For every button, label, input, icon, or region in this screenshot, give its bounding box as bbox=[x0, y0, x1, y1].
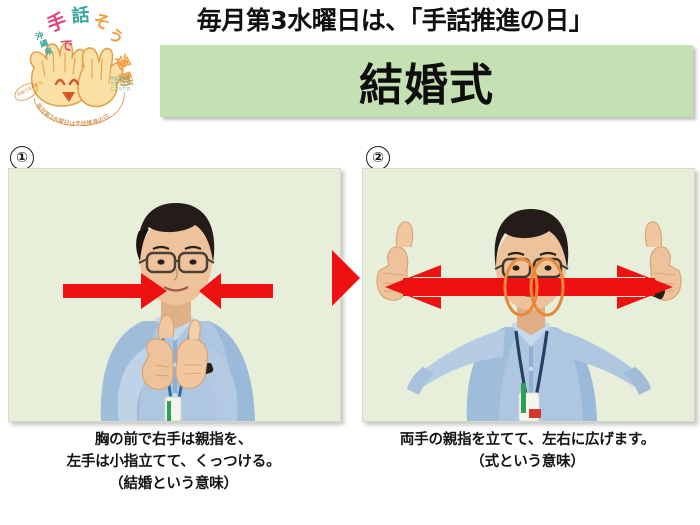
step-caption-1: 胸の前で右手は親指を、 左手は小指立てて、くっつける。 （結婚という意味） bbox=[8, 430, 339, 495]
caption-line: 両手の親指を立てて、左右に広げます。 bbox=[362, 430, 693, 452]
svg-text:こころです。: こころです。 bbox=[110, 85, 134, 91]
title-banner: 結婚式 bbox=[160, 45, 693, 117]
svg-text:手: 手 bbox=[44, 9, 70, 37]
caption-line: （式という意味） bbox=[362, 452, 693, 474]
svg-text:そ: そ bbox=[91, 11, 113, 35]
step-caption-2: 両手の親指を立てて、左右に広げます。 （式という意味） bbox=[362, 430, 693, 474]
step-transition-arrow bbox=[330, 248, 362, 308]
step-photo-panel-1 bbox=[8, 168, 341, 422]
svg-text:で: で bbox=[60, 39, 73, 54]
step-number-1: ① bbox=[10, 146, 34, 170]
slide-canvas: 沖 縄 県 手 話 そ う で 運 動 毎月第3水曜日は手話推進の日 bbox=[0, 0, 700, 525]
svg-text:話: 話 bbox=[71, 6, 90, 27]
step-photo-panel-2 bbox=[362, 168, 695, 422]
caption-line: 左手は小指立てて、くっつける。 bbox=[8, 452, 339, 474]
caption-line: 胸の前で右手は親指を、 bbox=[8, 430, 339, 452]
banner-title-text: 結婚式 bbox=[160, 45, 693, 117]
caption-line: （結婚という意味） bbox=[8, 474, 339, 496]
okinawa-shuwa-logo: 沖 縄 県 手 話 そ う で 運 動 毎月第3水曜日は手話推進の日 bbox=[12, 6, 142, 126]
page-title: 毎月第3水曜日は、「手話推進の日」 bbox=[150, 0, 640, 39]
step-number-2: ② bbox=[366, 146, 390, 170]
